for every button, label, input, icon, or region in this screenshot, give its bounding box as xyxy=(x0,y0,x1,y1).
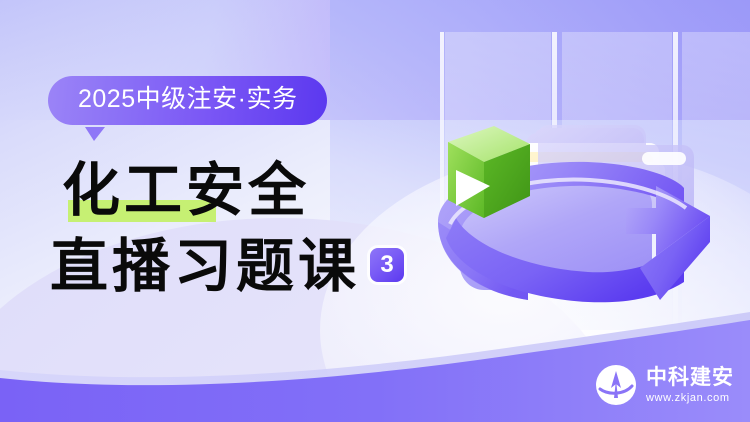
brand-name: 中科建安 xyxy=(646,367,734,388)
brand-url: www.zkjan.com xyxy=(646,393,734,404)
brand-logo: 中科建安 www.zkjan.com xyxy=(595,364,734,406)
course-promo-banner: 2025中级注安·实务 化工安全 直播习题课3 xyxy=(0,0,750,422)
headline-line-1: 化工安全 xyxy=(62,152,404,228)
headline-line-2-text: 直播习题课 xyxy=(50,232,360,300)
headline-line-2: 直播习题课3 xyxy=(50,228,404,304)
headline-block: 化工安全 直播习题课3 xyxy=(46,152,404,304)
headline-line-1-text: 化工安全 xyxy=(62,156,310,224)
folder-refresh-illustration xyxy=(398,10,738,350)
episode-number-badge: 3 xyxy=(370,248,404,282)
zkjan-logo-icon xyxy=(595,364,637,406)
brand-logo-text: 中科建安 www.zkjan.com xyxy=(646,367,734,404)
course-tag-label: 2025中级注安·实务 xyxy=(48,76,327,125)
speech-bubble-tail-icon xyxy=(85,127,105,141)
course-tag: 2025中级注安·实务 xyxy=(48,76,327,125)
